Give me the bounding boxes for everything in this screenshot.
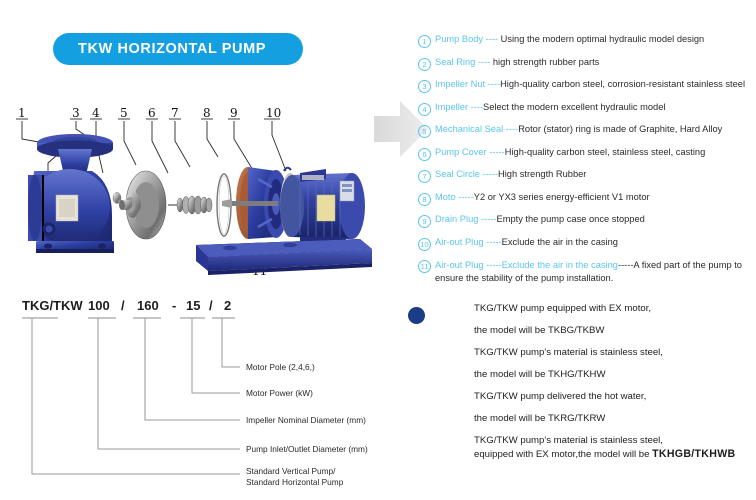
model-token-0: TKG/TKW (22, 298, 83, 313)
legend-item-3: 3 Impeller Nut ----High-quality carbon s… (418, 79, 756, 93)
nom-label-motor-pole: Motor Pole (2,4,6,) (246, 362, 315, 372)
legend-sep-5: ---- (503, 124, 518, 134)
exploded-pump-diagram: 1 2 3 4 5 6 7 8 9 10 11 (0, 95, 400, 285)
part-mechanical-seal (168, 196, 212, 214)
note-line-1: TKG/TKW pump equipped with EX motor, (474, 303, 756, 314)
legend-number-2: 2 (418, 58, 431, 71)
nom-label-motor-power: Motor Power (kW) (246, 388, 313, 398)
model-variant-notes: TKG/TKW pump equipped with EX motor, the… (408, 303, 756, 471)
note-line-6: the model will be TKRG/TKRW (474, 413, 756, 424)
model-token-3: 160 (137, 298, 159, 313)
legend-sep-8: ----- (456, 192, 474, 202)
legend-sep-11: ----- (484, 260, 502, 270)
legend-sep-4: ---- (468, 102, 483, 112)
legend-part-name-4: Impeller (435, 102, 468, 112)
note-final-model: TKHGB/TKHWB (652, 448, 735, 460)
model-token-1: 100 (88, 298, 110, 313)
part-base-plate (196, 239, 372, 275)
legend-part-name-6: Pump Cover (435, 147, 487, 157)
model-token-5: 15 (186, 298, 200, 313)
legend-text-5: Mechanical Seal ----Rotor (stator) ring … (435, 124, 722, 136)
note-line-2: the model will be TKBG/TKBW (474, 325, 756, 336)
legend-number-10: 10 (418, 238, 431, 251)
legend-part-name-7: Seal Circle (435, 169, 480, 179)
legend-desc-cyan-11: Exclude the air in the casing (502, 260, 618, 270)
legend-number-1: 1 (418, 35, 431, 48)
legend-part-name-10: Air-out Plug (435, 237, 484, 247)
callout-number-10: 10 (266, 106, 281, 120)
note-line-5: TKG/TKW pump delivered the hot water, (474, 391, 756, 402)
legend-desc-6: High-quality carbon steel, stainless ste… (505, 147, 706, 157)
callout-number-3: 3 (72, 106, 80, 120)
legend-item-5: 5 Mechanical Seal ----Rotor (stator) rin… (418, 124, 756, 138)
note-line-4: the model will be TKHG/TKHW (474, 369, 756, 380)
legend-sep-7: ----- (480, 169, 498, 179)
model-token-2: / (121, 298, 125, 313)
legend-number-8: 8 (418, 193, 431, 206)
note-final-prefix: equipped with EX motor,the model will be (474, 449, 652, 460)
legend-number-7: 7 (418, 170, 431, 183)
model-token-7: 2 (224, 298, 231, 313)
legend-desc-1: Using the modern optimal hydraulic model… (501, 34, 705, 44)
legend-item-6: 6 Pump Cover -----High-quality carbon st… (418, 147, 756, 161)
legend-item-7: 7 Seal Circle -----High strength Rubber (418, 169, 756, 183)
legend-number-9: 9 (418, 215, 431, 228)
callout-number-5: 5 (120, 106, 128, 120)
legend-number-6: 6 (418, 148, 431, 161)
legend-part-name-2: Seal Ring (435, 57, 475, 67)
legend-text-7: Seal Circle -----High strength Rubber (435, 169, 586, 181)
legend-sep-9: ----- (478, 214, 496, 224)
legend-desc-7: High strength Rubber (498, 169, 586, 179)
legend-desc-10: Exclude the air in the casing (502, 237, 618, 247)
legend-item-9: 9 Drain Plug -----Empty the pump case on… (418, 214, 756, 228)
parts-legend: 1 Pump Body ---- Using the modern optima… (418, 34, 756, 294)
nom-label-inlet-outlet-diameter: Pump Inlet/Outlet Diameter (mm) (246, 444, 368, 454)
legend-sep-3: ---- (485, 79, 500, 89)
legend-part-name-9: Drain Plug (435, 214, 478, 224)
model-token-4: - (172, 298, 176, 313)
nom-label-impeller-diameter: Impeller Nominal Diameter (mm) (246, 415, 366, 425)
legend-desc-9: Empty the pump case once stopped (497, 214, 645, 224)
legend-item-4: 4 Impeller ----Select the modern excelle… (418, 102, 756, 116)
part-impeller (119, 171, 166, 239)
legend-desc-8: Y2 or YX3 series energy-efficient V1 mot… (474, 192, 650, 202)
legend-text-8: Moto -----Y2 or YX3 series energy-effici… (435, 192, 650, 204)
page-title-pill: TKW HORIZONTAL PUMP (53, 33, 303, 65)
callout-number-7: 7 (171, 106, 179, 120)
bullet-icon (408, 307, 425, 324)
note-line-7: TKG/TKW pump's material is stainless ste… (474, 435, 756, 446)
model-token-6: / (209, 298, 213, 313)
part-motor (280, 168, 365, 244)
legend-number-3: 3 (418, 80, 431, 93)
legend-part-name-1: Pump Body (435, 34, 483, 44)
legend-sep-10: ----- (484, 237, 502, 247)
legend-number-4: 4 (418, 103, 431, 116)
model-nomenclature-diagram: TKG/TKW 100 / 160 - 15 / 2 Motor Pole (2… (0, 292, 400, 500)
nom-leaders (32, 318, 240, 474)
note-line-8: equipped with EX motor,the model will be… (474, 448, 756, 460)
legend-part-name-11: Air-out Plug (435, 260, 484, 270)
notes-lines: TKG/TKW pump equipped with EX motor, the… (474, 303, 756, 460)
legend-text-9: Drain Plug -----Empty the pump case once… (435, 214, 645, 226)
legend-desc-4: Select the modern excellent hydraulic mo… (483, 102, 665, 112)
legend-text-2: Seal Ring ---- high strength rubber part… (435, 57, 599, 69)
legend-sep-6: ----- (487, 147, 505, 157)
legend-text-6: Pump Cover -----High-quality carbon stee… (435, 147, 705, 159)
legend-sep-2: ---- (475, 57, 493, 67)
callout-number-8: 8 (203, 106, 211, 120)
callout-number-4: 4 (92, 106, 100, 120)
legend-desc-2: high strength rubber parts (493, 57, 599, 67)
note-line-3: TKG/TKW pump's material is stainless ste… (474, 347, 756, 358)
legend-desc-3: High-quality carbon steel, corrosion-res… (500, 79, 745, 89)
legend-sep2-11: ----- (618, 260, 633, 270)
legend-item-2: 2 Seal Ring ---- high strength rubber pa… (418, 57, 756, 71)
legend-text-3: Impeller Nut ----High-quality carbon ste… (435, 79, 745, 91)
legend-part-name-5: Mechanical Seal (435, 124, 503, 134)
legend-text-1: Pump Body ---- Using the modern optimal … (435, 34, 704, 46)
callout-number-6: 6 (148, 106, 156, 120)
legend-number-5: 5 (418, 125, 431, 138)
legend-item-10: 10 Air-out Plug -----Exclude the air in … (418, 237, 756, 251)
callout-number-1: 1 (18, 106, 26, 120)
legend-desc-5: Rotor (stator) ring is made of Graphite,… (518, 124, 722, 134)
legend-part-name-8: Moto (435, 192, 456, 202)
legend-part-name-3: Impeller Nut (435, 79, 485, 89)
legend-number-11: 11 (418, 260, 431, 273)
legend-text-10: Air-out Plug -----Exclude the air in the… (435, 237, 618, 249)
legend-text-11: Air-out Plug -----Exclude the air in the… (435, 259, 756, 286)
part-pump-body (28, 134, 114, 253)
callout-number-9: 9 (230, 106, 238, 120)
legend-item-8: 8 Moto -----Y2 or YX3 series energy-effi… (418, 192, 756, 206)
nom-label-standard-vertical: Standard Vertical Pump/ (246, 466, 336, 476)
nom-label-standard-horizontal: Standard Horizontal Pump (246, 477, 344, 487)
legend-text-4: Impeller ----Select the modern excellent… (435, 102, 665, 114)
page-title: TKW HORIZONTAL PUMP (78, 41, 266, 57)
legend-item-11: 11 Air-out Plug -----Exclude the air in … (418, 259, 756, 286)
legend-sep-1: ---- (483, 34, 501, 44)
legend-item-1: 1 Pump Body ---- Using the modern optima… (418, 34, 756, 48)
